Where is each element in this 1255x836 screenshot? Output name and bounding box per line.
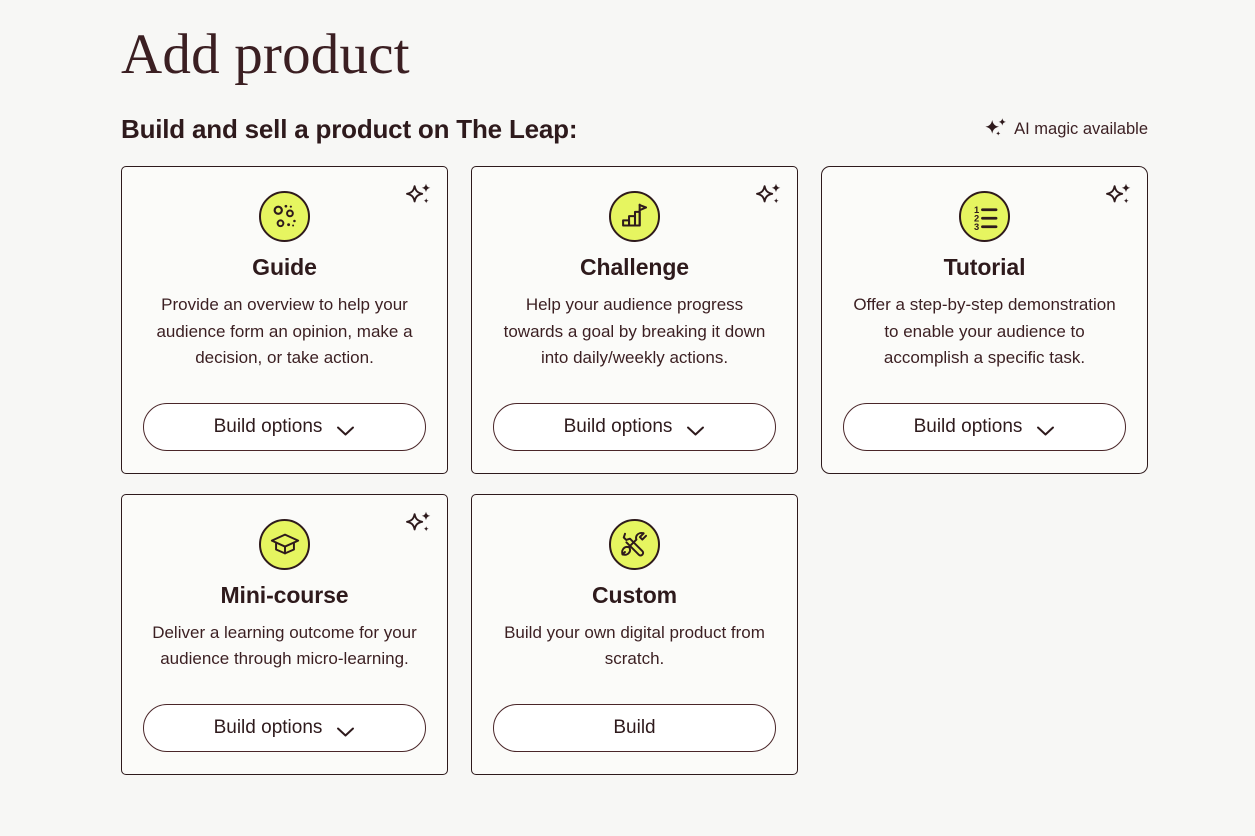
tools-wrench-screwdriver-icon	[609, 519, 660, 570]
build-options-button-tutorial[interactable]: Build options	[843, 403, 1126, 451]
build-options-button-mini-course[interactable]: Build options	[143, 704, 426, 752]
add-product-page: Add product Build and sell a product on …	[0, 0, 1255, 836]
dots-circle-icon	[259, 191, 310, 242]
chevron-down-icon	[686, 421, 705, 433]
product-card-tutorial[interactable]: 1 2 3 Tutorial Offer a step-by-step demo…	[821, 166, 1148, 474]
sparkles-icon	[754, 181, 784, 211]
build-button-custom[interactable]: Build	[493, 704, 776, 752]
graduation-cap-icon	[259, 519, 310, 570]
product-card-guide[interactable]: Guide Provide an overview to help your a…	[121, 166, 448, 474]
section-subtitle: Build and sell a product on The Leap:	[121, 114, 577, 145]
build-options-button-guide[interactable]: Build options	[143, 403, 426, 451]
sparkles-icon	[404, 181, 434, 211]
product-card-challenge[interactable]: Challenge Help your audience progress to…	[471, 166, 798, 474]
card-description: Offer a step-by-step demonstration to en…	[845, 292, 1124, 372]
sparkles-icon	[983, 116, 1009, 142]
build-options-button-challenge[interactable]: Build options	[493, 403, 776, 451]
card-title: Challenge	[580, 254, 689, 281]
chevron-down-icon	[336, 722, 355, 734]
card-description: Help your audience progress towards a go…	[495, 292, 774, 372]
build-options-label: Build options	[914, 416, 1023, 438]
build-options-label: Build options	[214, 717, 323, 739]
card-title: Tutorial	[944, 254, 1026, 281]
card-title: Mini-course	[221, 582, 349, 609]
svg-text:3: 3	[973, 221, 978, 231]
chevron-down-icon	[336, 421, 355, 433]
card-description: Build your own digital product from scra…	[495, 620, 774, 673]
card-description: Deliver a learning outcome for your audi…	[145, 620, 424, 673]
chevron-down-icon	[1036, 421, 1055, 433]
ai-magic-available-badge: AI magic available	[983, 116, 1148, 142]
product-card-custom[interactable]: Custom Build your own digital product fr…	[471, 494, 798, 775]
product-card-mini-course[interactable]: Mini-course Deliver a learning outcome f…	[121, 494, 448, 775]
sparkles-icon	[404, 509, 434, 539]
card-title: Custom	[592, 582, 677, 609]
ai-magic-label: AI magic available	[1014, 120, 1148, 139]
sparkles-icon	[1104, 181, 1134, 211]
build-options-label: Build options	[214, 416, 323, 438]
product-type-card-grid: Guide Provide an overview to help your a…	[121, 166, 1150, 775]
numbered-list-icon: 1 2 3	[959, 191, 1010, 242]
build-label: Build	[613, 717, 655, 739]
subtitle-row: Build and sell a product on The Leap: AI…	[121, 114, 1148, 144]
build-options-label: Build options	[564, 416, 673, 438]
goal-steps-flag-icon	[609, 191, 660, 242]
page-title: Add product	[121, 0, 1255, 83]
card-title: Guide	[252, 254, 317, 281]
card-description: Provide an overview to help your audienc…	[145, 292, 424, 372]
